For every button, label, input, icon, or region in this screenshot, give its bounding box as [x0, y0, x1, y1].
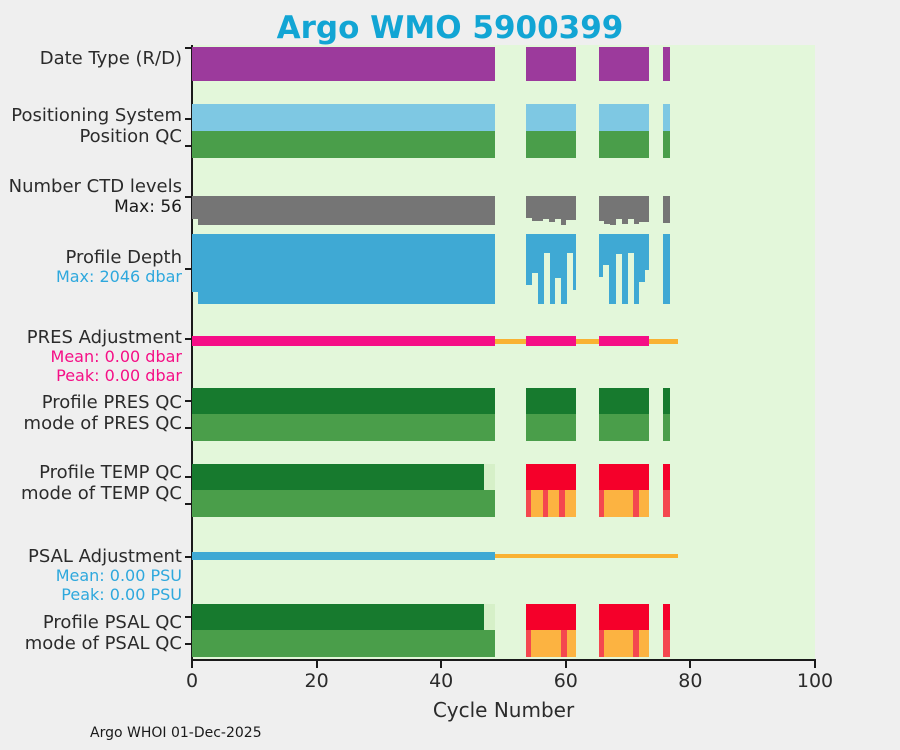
x-tick-20 — [316, 661, 318, 668]
row-label-ctd-levels: Number CTD levelsMax: 56 — [9, 176, 182, 217]
line-pres-adjustment-0 — [192, 336, 495, 346]
row-label-date-type-line-0: Date Type (R/D) — [40, 48, 182, 69]
bar-profile-depth-19 — [645, 234, 649, 270]
x-tick-80 — [689, 661, 691, 668]
y-tick-2 — [185, 145, 192, 147]
line-psal-adjustment-1 — [495, 554, 678, 558]
bar-positioning-system-0 — [192, 104, 495, 131]
line-pres-adjustment-4 — [599, 336, 649, 346]
y-tick-10 — [185, 556, 192, 558]
bar-profile-temp-qc-4 — [663, 464, 670, 490]
row-label-psal-adjustment-line-2: Peak: 0.00 PSU — [28, 586, 182, 605]
y-tick-0 — [185, 47, 192, 49]
bar-date-type-r-d-1 — [526, 47, 576, 81]
bar-profile-depth-1 — [198, 234, 495, 304]
y-tick-8 — [185, 476, 192, 478]
footer-credit: Argo WHOI 01-Dec-2025 — [90, 725, 262, 741]
bar-mode-of-psal-qc-8 — [639, 630, 650, 657]
row-label-positioning: Positioning SystemPosition QC — [11, 105, 182, 147]
bar-profile-pres-qc-0 — [192, 388, 495, 414]
bar-positioning-system-2 — [599, 104, 649, 131]
row-label-psal-qc-line-1: mode of PSAL QC — [25, 633, 182, 654]
line-psal-adjustment-0 — [192, 552, 495, 560]
row-label-pres-qc-line-1: mode of PRES QC — [24, 413, 182, 434]
y-tick-11 — [185, 616, 192, 618]
bar-position-qc-3 — [663, 131, 670, 158]
row-label-pres-adjustment-line-2: Peak: 0.00 dbar — [27, 367, 182, 386]
x-tick-label-0: 0 — [152, 670, 232, 692]
bar-mode-of-temp-qc-8 — [604, 490, 633, 517]
y-tick-4 — [185, 268, 192, 270]
bar-mode-of-psal-qc-2 — [531, 630, 562, 657]
row-label-temp-qc-line-1: mode of TEMP QC — [21, 483, 182, 504]
bar-number-ctd-levels-17 — [639, 196, 649, 222]
bar-mode-of-temp-qc-11 — [663, 490, 670, 517]
bar-profile-pres-qc-2 — [599, 388, 649, 414]
bar-mode-of-psal-qc-0 — [192, 630, 495, 657]
bar-positioning-system-3 — [663, 104, 670, 131]
bar-mode-of-psal-qc-9 — [663, 630, 670, 657]
x-tick-label-20: 20 — [277, 670, 357, 692]
row-label-positioning-line-1: Position QC — [11, 126, 182, 147]
x-tick-label-80: 80 — [650, 670, 730, 692]
bar-profile-pres-qc-1 — [526, 388, 576, 414]
row-label-temp-qc-line-0: Profile TEMP QC — [21, 462, 182, 483]
bar-profile-psal-qc-3 — [599, 604, 649, 630]
bar-number-ctd-levels-9 — [566, 196, 575, 220]
row-label-profile-depth-line-0: Profile Depth — [56, 247, 182, 268]
y-tick-3 — [185, 196, 192, 198]
row-label-date-type: Date Type (R/D) — [40, 48, 182, 69]
bar-mode-of-psal-qc-4 — [567, 630, 576, 657]
row-label-psal-adjustment-line-0: PSAL Adjustment — [28, 546, 182, 567]
bar-profile-psal-qc-0 — [192, 604, 484, 630]
row-label-ctd-levels-line-1: Max: 56 — [9, 197, 182, 217]
bar-position-qc-2 — [599, 131, 649, 158]
bar-mode-of-pres-qc-1 — [526, 414, 576, 441]
line-pres-adjustment-5 — [649, 339, 678, 344]
page-title: Argo WMO 5900399 — [0, 10, 900, 46]
y-tick-6 — [185, 400, 192, 402]
row-label-pres-adjustment-line-0: PRES Adjustment — [27, 327, 182, 348]
bar-profile-psal-qc-2 — [526, 604, 576, 630]
line-pres-adjustment-3 — [576, 339, 599, 344]
bar-profile-pres-qc-3 — [663, 388, 670, 414]
row-label-psal-adjustment-line-1: Mean: 0.00 PSU — [28, 567, 182, 586]
y-tick-12 — [185, 643, 192, 645]
bar-profile-depth-10 — [573, 234, 576, 290]
bar-date-type-r-d-2 — [599, 47, 649, 81]
row-label-profile-depth: Profile DepthMax: 2046 dbar — [56, 247, 182, 287]
bar-mode-of-temp-qc-0 — [192, 490, 495, 517]
x-axis-line — [191, 659, 816, 661]
bar-mode-of-pres-qc-0 — [192, 414, 495, 441]
x-tick-60 — [565, 661, 567, 668]
bar-number-ctd-levels-18 — [663, 196, 670, 223]
row-label-pres-qc: Profile PRES QCmode of PRES QC — [24, 392, 182, 434]
x-tick-label-100: 100 — [775, 670, 855, 692]
bar-profile-psal-qc-1 — [484, 604, 495, 630]
y-tick-5 — [185, 338, 192, 340]
bar-date-type-r-d-3 — [663, 47, 670, 81]
bar-position-qc-1 — [526, 131, 576, 158]
bar-mode-of-temp-qc-2 — [531, 490, 543, 517]
bar-position-qc-0 — [192, 131, 495, 158]
bar-mode-of-psal-qc-6 — [604, 630, 633, 657]
x-tick-100 — [814, 661, 816, 668]
y-tick-7 — [185, 427, 192, 429]
y-tick-9 — [185, 503, 192, 505]
row-label-psal-qc-line-0: Profile PSAL QC — [25, 612, 182, 633]
bar-profile-temp-qc-1 — [484, 464, 495, 490]
x-tick-label-60: 60 — [526, 670, 606, 692]
row-label-pres-adjustment-line-1: Mean: 0.00 dbar — [27, 348, 182, 367]
bar-mode-of-temp-qc-4 — [548, 490, 559, 517]
bar-profile-depth-20 — [663, 234, 670, 304]
bar-profile-temp-qc-2 — [526, 464, 576, 490]
row-label-pres-adjustment: PRES AdjustmentMean: 0.00 dbarPeak: 0.00… — [27, 327, 182, 386]
row-label-ctd-levels-line-0: Number CTD levels — [9, 176, 182, 197]
bar-profile-temp-qc-0 — [192, 464, 484, 490]
bar-mode-of-temp-qc-6 — [565, 490, 576, 517]
bar-positioning-system-1 — [526, 104, 576, 131]
line-pres-adjustment-1 — [495, 339, 526, 344]
bar-mode-of-pres-qc-3 — [663, 414, 670, 441]
x-tick-40 — [440, 661, 442, 668]
bar-profile-depth-13 — [609, 234, 616, 304]
x-tick-label-40: 40 — [401, 670, 481, 692]
row-label-psal-adjustment: PSAL AdjustmentMean: 0.00 PSUPeak: 0.00 … — [28, 546, 182, 605]
bar-profile-psal-qc-4 — [663, 604, 670, 630]
x-tick-0 — [191, 661, 193, 668]
row-label-psal-qc: Profile PSAL QCmode of PSAL QC — [25, 612, 182, 654]
row-label-profile-depth-line-1: Max: 2046 dbar — [56, 268, 182, 287]
bar-date-type-r-d-0 — [192, 47, 495, 81]
row-label-temp-qc: Profile TEMP QCmode of TEMP QC — [21, 462, 182, 504]
line-pres-adjustment-2 — [526, 336, 576, 346]
x-axis-label: Cycle Number — [192, 698, 815, 722]
bar-number-ctd-levels-1 — [198, 196, 495, 225]
row-label-pres-qc-line-0: Profile PRES QC — [24, 392, 182, 413]
bar-profile-temp-qc-3 — [599, 464, 649, 490]
bar-mode-of-pres-qc-2 — [599, 414, 649, 441]
row-label-positioning-line-0: Positioning System — [11, 105, 182, 126]
y-tick-1 — [185, 118, 192, 120]
bar-mode-of-temp-qc-10 — [639, 490, 650, 517]
